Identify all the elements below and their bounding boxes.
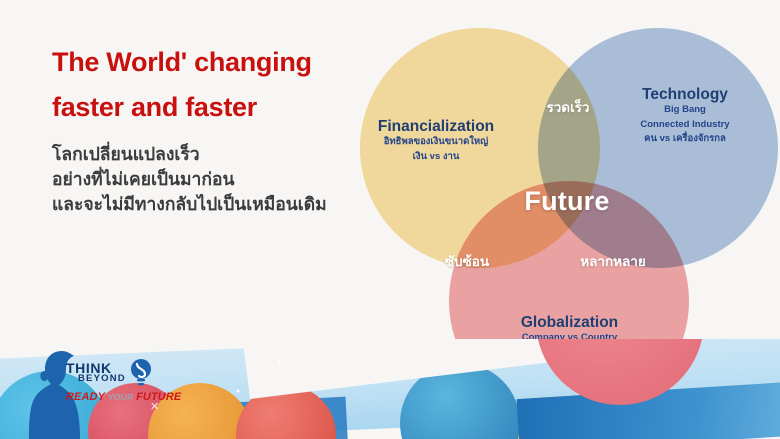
sparkle-icon-3: ● bbox=[236, 388, 240, 395]
headline-line-2: faster and faster bbox=[52, 94, 382, 121]
logo-tagline-ready: READY bbox=[66, 391, 105, 403]
logo-text-beyond: BEYOND bbox=[78, 375, 126, 384]
bottom-banner: ✕ ✦ ● THINK BEYOND READY YOUR FUTURE bbox=[0, 339, 780, 439]
sparkle-icon-2: ✦ bbox=[276, 358, 283, 367]
logo-tagline: READY YOUR FUTURE bbox=[66, 391, 216, 403]
headline-line-1: The World' changing bbox=[52, 49, 382, 76]
subtitle-line-2: อย่างที่ไม่เคยเป็นมาก่อน bbox=[52, 167, 392, 192]
subtitle-block: โลกเปลี่ยนแปลงเร็ว อย่างที่ไม่เคยเป็นมาก… bbox=[52, 142, 392, 217]
subtitle-line-1: โลกเปลี่ยนแปลงเร็ว bbox=[52, 142, 392, 167]
logo-tagline-your: YOUR bbox=[108, 392, 133, 402]
venn-diagram: Financialization อิทธิพลของเงินขนาดใหญ่ … bbox=[352, 18, 780, 384]
logo-tagline-future: FUTURE bbox=[136, 391, 181, 403]
brand-logo[interactable]: THINK BEYOND READY YOUR FUTURE bbox=[66, 358, 216, 403]
slide-canvas: The World' changing faster and faster โล… bbox=[0, 0, 780, 439]
subtitle-line-3: และจะไม่มีทางกลับไปเป็นเหมือนเดิม bbox=[52, 192, 392, 217]
lightbulb-icon bbox=[128, 358, 154, 388]
page-title: The World' changing faster and faster bbox=[52, 49, 382, 139]
